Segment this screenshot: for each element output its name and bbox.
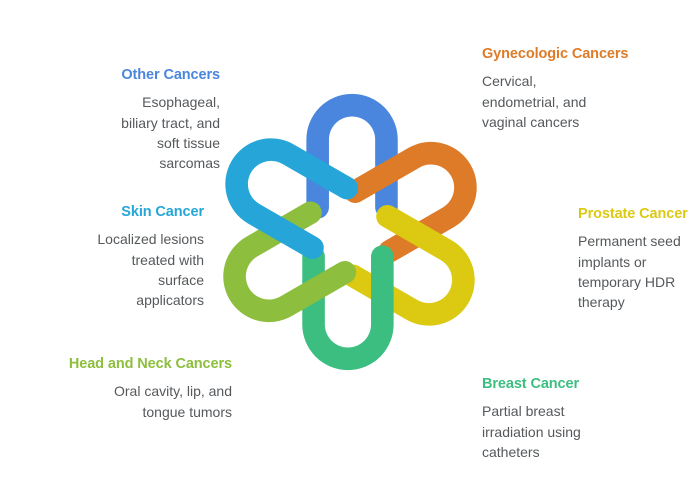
callout-other-cancers: Other Cancers Esophageal, biliary tract,…	[28, 66, 220, 174]
callout-skin-cancer-title: Skin Cancer	[12, 203, 204, 222]
callout-skin-cancer-body: Localized lesions treated with surface a…	[12, 229, 204, 311]
callout-gynecologic-cancers-title: Gynecologic Cancers	[482, 45, 674, 64]
emblem-petal-prostate-cancer	[338, 201, 492, 343]
callout-head-and-neck-cancers-title: Head and Neck Cancers	[40, 355, 232, 374]
callout-prostate-cancer-body: Permanent seed implants or temporary HDR…	[578, 231, 700, 313]
callout-other-cancers-title: Other Cancers	[28, 66, 220, 85]
central-emblem-graphic	[196, 78, 504, 386]
callout-gynecologic-cancers-body: Cervical, endometrial, and vaginal cance…	[482, 71, 674, 132]
callout-breast-cancer-body: Partial breast irradiation using cathete…	[482, 401, 674, 462]
emblem-petal-skin-cancer	[209, 122, 363, 264]
callout-breast-cancer-title: Breast Cancer	[482, 375, 674, 394]
callout-skin-cancer: Skin Cancer Localized lesions treated wi…	[12, 203, 204, 311]
callout-gynecologic-cancers: Gynecologic Cancers Cervical, endometria…	[482, 45, 674, 132]
callout-head-and-neck-cancers: Head and Neck Cancers Oral cavity, lip, …	[40, 355, 232, 422]
callout-other-cancers-body: Esophageal, biliary tract, and soft tiss…	[28, 92, 220, 174]
callout-prostate-cancer-title: Prostate Cancer	[578, 205, 700, 224]
callout-prostate-cancer: Prostate Cancer Permanent seed implants …	[578, 205, 700, 313]
brachytherapy-applications-infographic: Other Cancers Esophageal, biliary tract,…	[0, 0, 700, 500]
callout-head-and-neck-cancers-body: Oral cavity, lip, and tongue tumors	[40, 381, 232, 422]
callout-breast-cancer: Breast Cancer Partial breast irradiation…	[482, 375, 674, 462]
